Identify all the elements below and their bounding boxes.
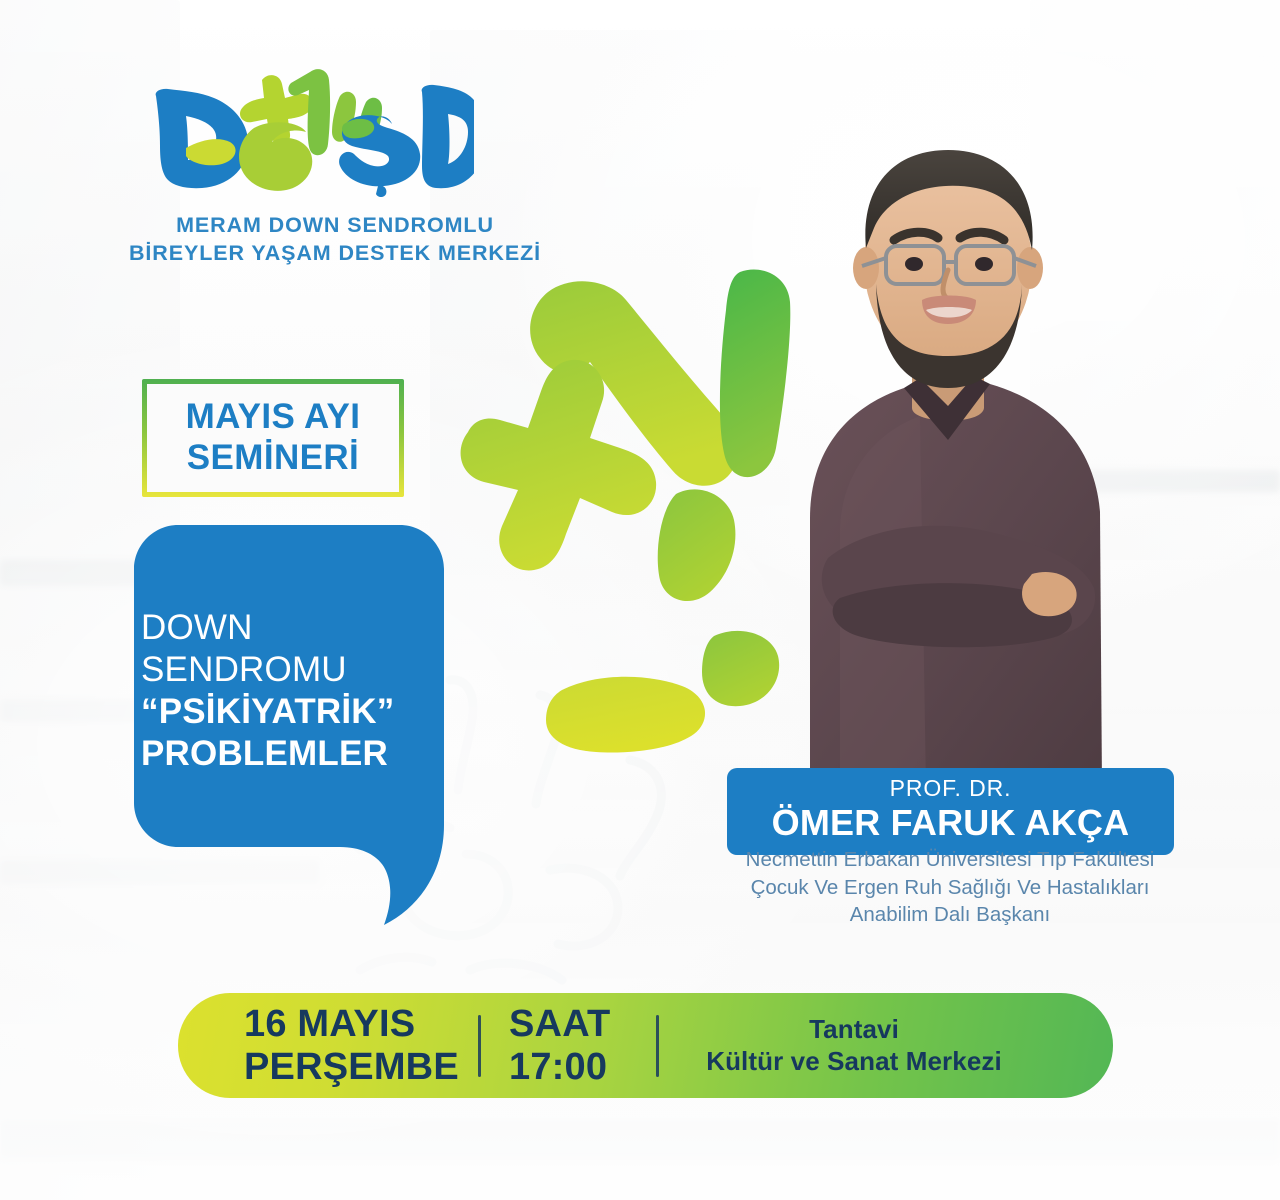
affiliation-line-1: Necmettin Erbakan Üniversitesi Tıp Fakül… xyxy=(710,846,1190,874)
event-date: 16 MAYIS PERŞEMBE xyxy=(178,1003,478,1088)
logo-cedilla xyxy=(376,185,386,197)
badge-line-2: SEMİNERİ xyxy=(187,438,359,479)
affiliation-line-2: Çocuk Ve Ergen Ruh Sağlığı Ve Hastalıkla… xyxy=(710,874,1190,902)
event-venue: Tantavi Kültür ve Sanat Merkezi xyxy=(659,1014,1049,1077)
speaker-nameplate: PROF. DR. ÖMER FARUK AKÇA xyxy=(727,768,1174,855)
logo-letter-d-left xyxy=(156,89,249,188)
speaker-title: PROF. DR. xyxy=(737,776,1164,802)
venue-line-2: Kültür ve Sanat Merkezi xyxy=(659,1046,1049,1078)
topic-line-3: “PSİKİYATRİK” xyxy=(141,691,431,733)
topic-line-2: SENDROMU xyxy=(141,649,431,691)
logo-letter-o xyxy=(239,122,312,191)
info-divider-1 xyxy=(478,1015,481,1077)
topic-line-1: DOWN xyxy=(141,607,431,649)
speaker-affiliation: Necmettin Erbakan Üniversitesi Tıp Fakül… xyxy=(710,846,1190,929)
event-date-day: 16 MAYIS xyxy=(244,1003,478,1046)
topic-line-4: PROBLEMLER xyxy=(141,733,431,775)
speaker-name: ÖMER FARUK AKÇA xyxy=(737,803,1164,843)
event-time-value: 17:00 xyxy=(509,1046,656,1089)
venue-line-1: Tantavi xyxy=(659,1014,1049,1046)
speaker-photo xyxy=(690,88,1200,788)
badge-line-1: MAYIS AYI xyxy=(186,397,361,438)
event-info-bar: 16 MAYIS PERŞEMBE SAAT 17:00 Tantavi Kül… xyxy=(178,993,1113,1098)
logo-block: MERAM DOWN SENDROMLU BİREYLER YAŞAM DEST… xyxy=(120,62,550,268)
seminar-poster: MERAM DOWN SENDROMLU BİREYLER YAŞAM DEST… xyxy=(0,0,1280,1200)
logo-letter-d-right xyxy=(422,85,474,188)
organization-name: MERAM DOWN SENDROMLU BİREYLER YAŞAM DEST… xyxy=(120,211,550,268)
logo-swoosh xyxy=(186,139,236,165)
event-date-weekday: PERŞEMBE xyxy=(244,1046,478,1089)
event-time-label: SAAT xyxy=(509,1003,656,1046)
info-divider-2 xyxy=(656,1015,659,1077)
seminar-month-badge: MAYIS AYI SEMİNERİ xyxy=(142,379,404,497)
event-time: SAAT 17:00 xyxy=(481,1003,656,1088)
blob-kidney xyxy=(546,677,705,753)
dosd-logo-icon xyxy=(134,62,474,197)
topic-text: DOWN SENDROMU “PSİKİYATRİK” PROBLEMLER xyxy=(141,607,431,775)
affiliation-line-3: Anabilim Dalı Başkanı xyxy=(710,901,1190,929)
org-line-2: YAŞAM DESTEK MERKEZİ xyxy=(251,241,541,265)
